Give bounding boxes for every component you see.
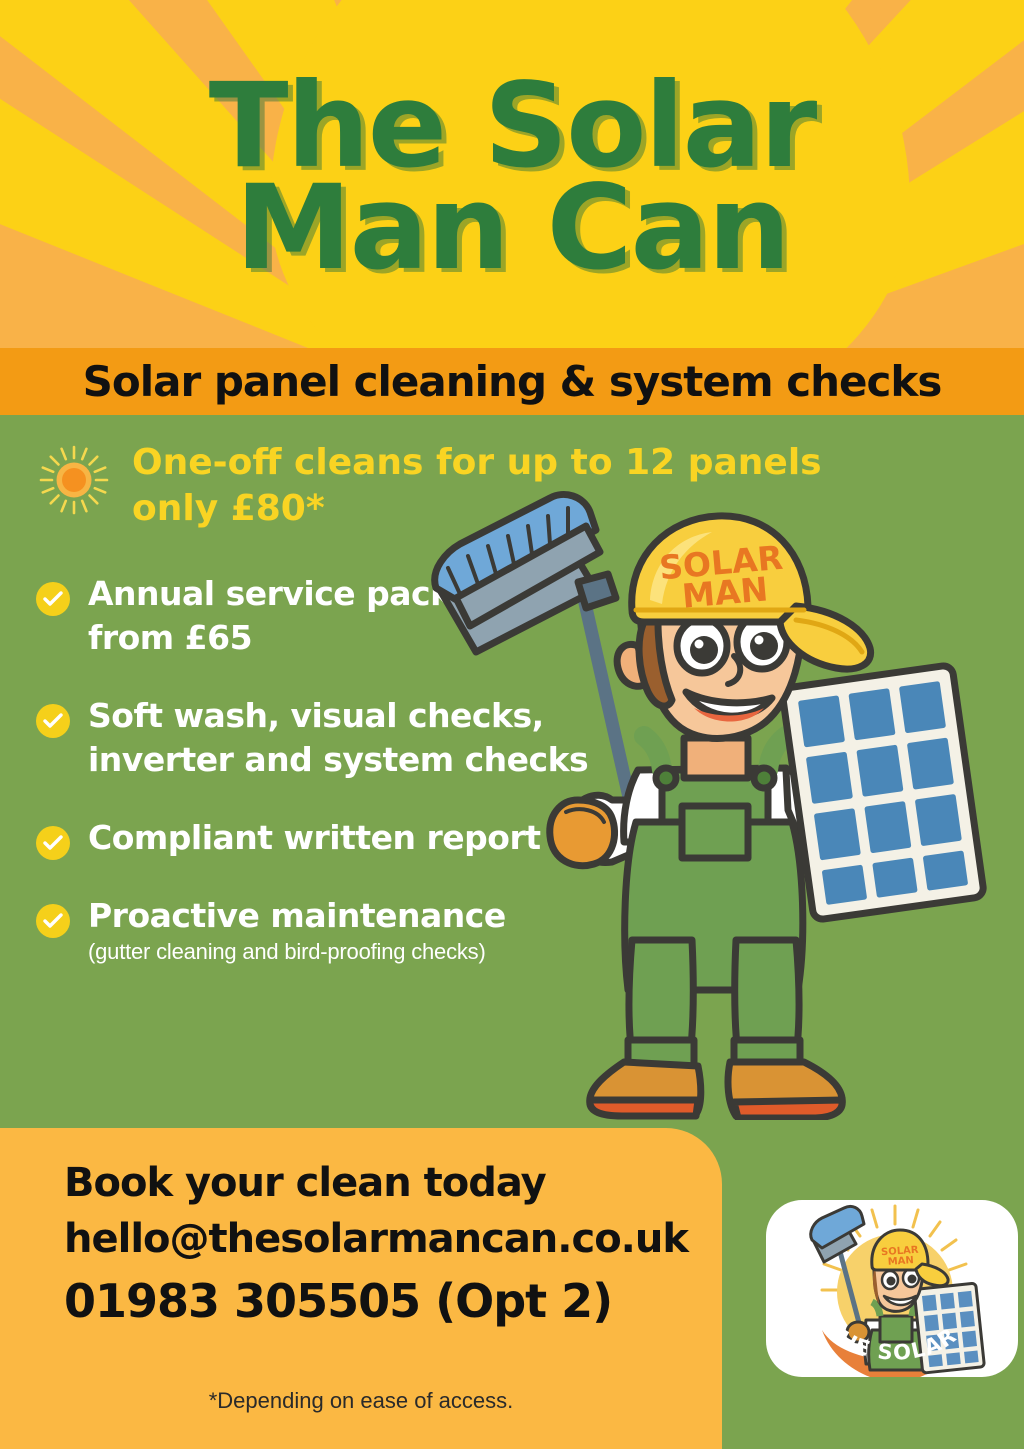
check-circle-icon xyxy=(36,826,70,860)
benefit-text: Soft wash, visual checks, inverter and s… xyxy=(88,694,606,782)
subtitle-bar: Solar panel cleaning & system checks xyxy=(0,348,1024,415)
offer-block: One-off cleans for up to 12 panels only … xyxy=(38,440,898,532)
header-sunburst: The Solar Man Can xyxy=(0,0,1024,348)
benefits-list: Annual service packages from £65 Soft wa… xyxy=(36,572,606,1000)
check-circle-icon xyxy=(36,904,70,938)
email-link[interactable]: hello@thesolarmancan.co.uk xyxy=(64,1211,704,1267)
list-item: Proactive maintenance (gutter cleaning a… xyxy=(36,894,606,966)
benefit-subtext: (gutter cleaning and bird-proofing check… xyxy=(88,939,606,965)
title-line-2: Man Can xyxy=(235,174,789,282)
logo-cap-text-line2: MAN xyxy=(887,1255,914,1268)
benefit-text: Proactive maintenance xyxy=(88,894,606,938)
benefit-text: Annual service packages from £65 xyxy=(88,572,606,660)
list-item: Compliant written report xyxy=(36,816,606,860)
check-circle-icon xyxy=(36,704,70,738)
contact-block: Book your clean today hello@thesolarmanc… xyxy=(64,1155,704,1336)
subtitle-text: Solar panel cleaning & system checks xyxy=(83,357,942,406)
check-circle-icon xyxy=(36,582,70,616)
offer-text: One-off cleans for up to 12 panels only … xyxy=(132,440,872,532)
phone-number[interactable]: 01983 305505 (Opt 2) xyxy=(64,1267,704,1336)
cta-text: Book your clean today xyxy=(64,1155,704,1211)
list-item: Annual service packages from £65 xyxy=(36,572,606,660)
sun-icon xyxy=(38,444,110,516)
brand-logo: SOLAR MAN THE SOLAR MAN xyxy=(780,1200,1010,1377)
list-item: Soft wash, visual checks, inverter and s… xyxy=(36,694,606,782)
footnote-text: *Depending on ease of access. xyxy=(0,1388,722,1414)
logo-card: SOLAR MAN THE SOLAR MAN xyxy=(766,1200,1018,1377)
benefit-text: Compliant written report xyxy=(88,816,606,860)
poster-title: The Solar Man Can xyxy=(0,0,1024,348)
poster-root: The Solar Man Can Solar panel cleaning &… xyxy=(0,0,1024,1449)
